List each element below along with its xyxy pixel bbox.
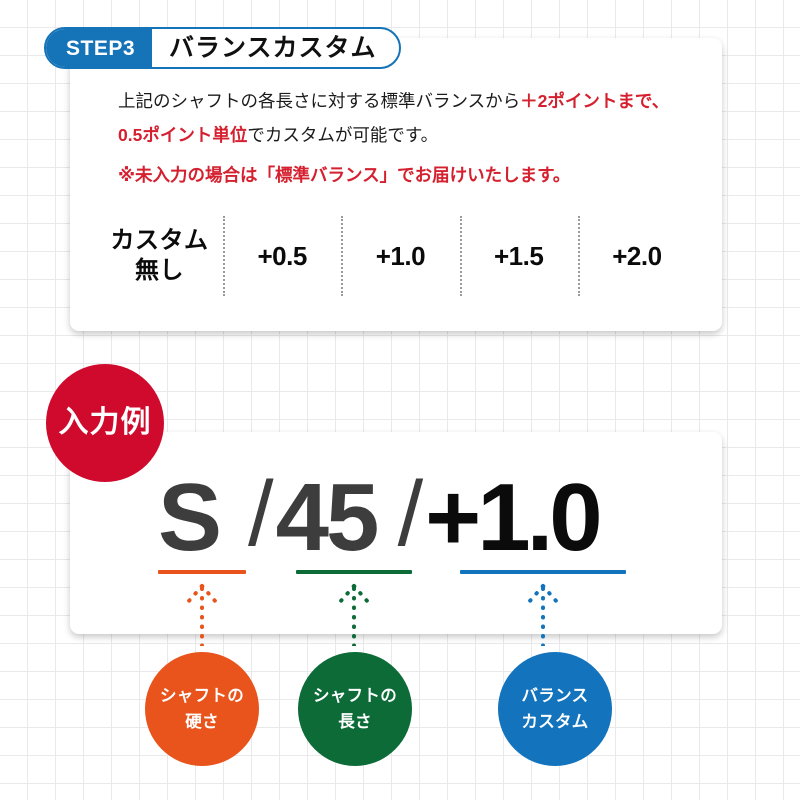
description-line-1-prefix: 上記のシャフトの各長さに対する標準バランスから <box>118 91 520 111</box>
description-line-2-emphasis: 0.5ポイント単位 <box>118 125 247 145</box>
option-plus-1-0[interactable]: +1.0 <box>341 208 459 304</box>
description-line-2: 0.5ポイント単位でカスタムが可能です。 <box>118 118 708 152</box>
underline-hardness <box>158 570 246 574</box>
description-line-1: 上記のシャフトの各長さに対する標準バランスから＋2ポイントまで、 <box>118 84 708 118</box>
description-block: 上記のシャフトの各長さに対する標準バランスから＋2ポイントまで、 0.5ポイント… <box>118 84 708 192</box>
example-separator-2: / <box>396 468 426 560</box>
option-no-custom-line-2: 無し <box>111 256 209 286</box>
legend-hardness-line-2: 硬さ <box>185 713 219 731</box>
example-balance-value: +1.0 <box>425 470 597 566</box>
step-number-label: STEP3 <box>46 29 152 67</box>
arrow-up-length-icon <box>334 582 374 646</box>
example-badge-label: 入力例 <box>59 408 152 438</box>
arrow-up-balance-icon <box>523 582 563 646</box>
description-line-1-emphasis: ＋2ポイントまで、 <box>520 91 669 111</box>
underline-balance <box>460 570 626 574</box>
legend-balance-line-2: カスタム <box>521 713 588 731</box>
page-root: STEP3 バランスカスタム 上記のシャフトの各長さに対する標準バランスから＋2… <box>0 0 800 800</box>
legend-circle-length: シャフトの 長さ <box>298 652 412 766</box>
option-no-custom[interactable]: カスタム 無し <box>96 208 223 304</box>
legend-circle-hardness: シャフトの 硬さ <box>145 652 259 766</box>
arrow-up-hardness-icon <box>182 582 222 646</box>
example-formula: S / 45 / +1.0 <box>158 462 658 574</box>
description-line-2-suffix: でカスタムが可能です。 <box>247 125 438 145</box>
step-badge: STEP3 バランスカスタム <box>44 27 401 69</box>
balance-option-row: カスタム 無し +0.5 +1.0 +1.5 +2.0 <box>96 208 696 304</box>
underline-length <box>296 570 412 574</box>
option-plus-1-5[interactable]: +1.5 <box>460 208 578 304</box>
legend-length-line-1: シャフトの <box>313 687 397 705</box>
description-note: ※未入力の場合は「標準バランス」でお届けいたします。 <box>118 158 708 192</box>
step-title: バランスカスタム <box>152 29 399 67</box>
example-length-value: 45 <box>276 470 396 566</box>
legend-length-line-2: 長さ <box>338 713 372 731</box>
option-no-custom-line-1: カスタム <box>111 226 209 256</box>
legend-circle-balance: バランス カスタム <box>498 652 612 766</box>
option-plus-0-5[interactable]: +0.5 <box>223 208 341 304</box>
example-badge: 入力例 <box>46 364 164 482</box>
example-hardness-value: S <box>158 470 246 566</box>
option-plus-2-0[interactable]: +2.0 <box>578 208 696 304</box>
example-separator-1: / <box>246 468 276 560</box>
legend-balance-line-1: バランス <box>522 687 589 705</box>
legend-hardness-line-1: シャフトの <box>160 687 244 705</box>
